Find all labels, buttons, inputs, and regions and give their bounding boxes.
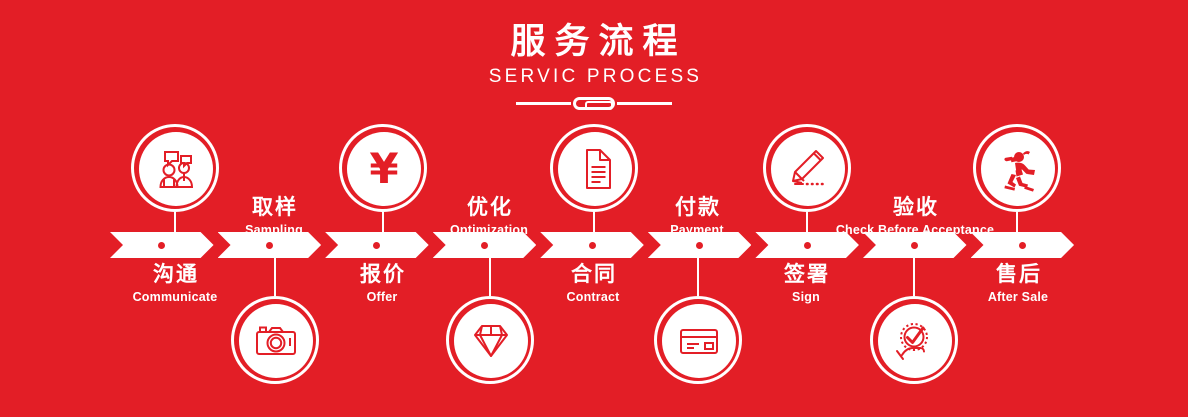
yen-glyph: ¥ [369, 148, 398, 190]
step-label-cn: 签署 [696, 262, 916, 288]
ribbon-node-dot [1019, 242, 1026, 249]
divider-clip-shape [573, 97, 615, 110]
step-label-after-sale: 售后 After Sale [908, 262, 1128, 306]
ribbon-node-dot [481, 242, 488, 249]
divider-line-right [617, 102, 672, 105]
ribbon-node-dot [266, 242, 273, 249]
camera-icon [239, 304, 313, 378]
step-label-cn: 报价 [272, 262, 492, 288]
step-icon-acceptance[interactable] [870, 296, 958, 384]
ribbon-node-dot [804, 242, 811, 249]
step-label-offer: 报价 Offer [272, 262, 492, 306]
step-icon-optimization[interactable] [446, 296, 534, 384]
ribbon-node-dot [911, 242, 918, 249]
ribbon-node-dot [589, 242, 596, 249]
step-label-contract: 合同 Contract [483, 262, 703, 306]
step-label-cn: 售后 [908, 262, 1128, 288]
ribbon-node-dot [158, 242, 165, 249]
step-icon-after-sale[interactable] [973, 124, 1061, 212]
diamond-icon [454, 304, 528, 378]
step-label-communicate: 沟通 Communicate [65, 262, 285, 306]
step-label-en: Payment [587, 222, 807, 239]
header: 服务流程 SERVIC PROCESS [0, 22, 1188, 110]
paperclip-divider-icon [0, 96, 1188, 110]
step-label-en: Contract [483, 289, 703, 306]
delivery-runner-icon [981, 132, 1055, 206]
step-label-cn: 沟通 [65, 262, 285, 288]
step-label-en: Sampling [164, 222, 384, 239]
ribbon-node-dot [373, 242, 380, 249]
step-icon-payment[interactable] [654, 296, 742, 384]
divider-line-left [516, 102, 571, 105]
page-title-en: SERVIC PROCESS [0, 65, 1188, 89]
step-label-en: Optimization [379, 222, 599, 239]
credit-card-icon [662, 304, 736, 378]
step-label-en: Check Before Acceptance [805, 222, 1025, 239]
page-title-cn: 服务流程 [0, 22, 1188, 62]
infographic-canvas: 服务流程 SERVIC PROCESS [0, 0, 1188, 417]
step-label-en: After Sale [908, 289, 1128, 306]
step-label-cn: 合同 [483, 262, 703, 288]
step-label-sign: 签署 Sign [696, 262, 916, 306]
step-label-en: Offer [272, 289, 492, 306]
ribbon-node-dot [696, 242, 703, 249]
step-label-payment: 付款 Payment [587, 195, 807, 239]
hand-checkmark-badge-icon [878, 304, 952, 378]
step-label-en: Sign [696, 289, 916, 306]
step-label-cn: 付款 [587, 195, 807, 221]
step-icon-sampling[interactable] [231, 296, 319, 384]
step-label-sampling: 取样 Sampling [164, 195, 384, 239]
